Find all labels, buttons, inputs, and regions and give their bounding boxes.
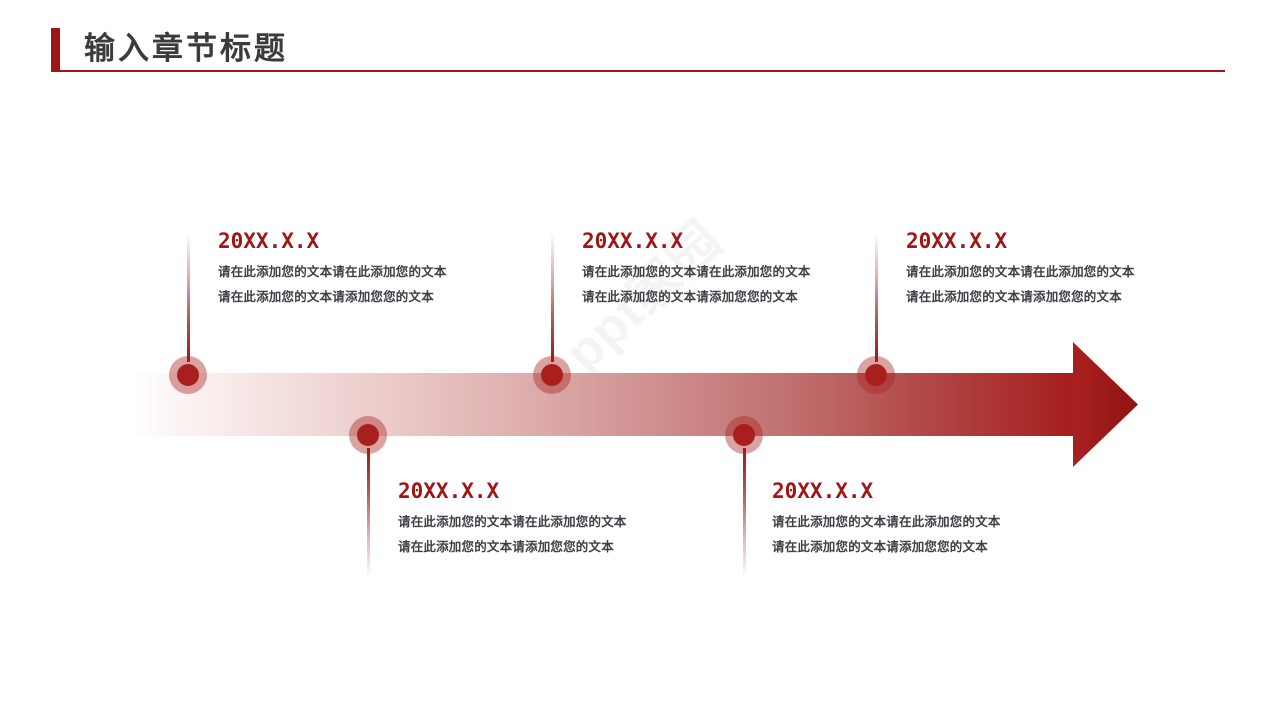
- timeline-body-2: 请在此添加您的文本请在此添加您的文本请在此添加您的文本请添加您您的文本: [398, 510, 630, 560]
- timeline-marker-2-core: [357, 424, 379, 446]
- timeline-date-3: 20XX.X.X: [582, 228, 832, 254]
- connector-stem-1: [187, 232, 190, 362]
- timeline-marker-1-core: [177, 364, 199, 386]
- slide-header: 输入章节标题: [0, 0, 1280, 100]
- timeline-body-5: 请在此添加您的文本请在此添加您的文本请在此添加您的文本请添加您您的文本: [906, 260, 1138, 310]
- connector-stem-2: [367, 448, 370, 578]
- timeline-marker-1[interactable]: [169, 356, 207, 394]
- watermark: ppt家园: [545, 300, 795, 430]
- timeline-body-3: 请在此添加您的文本请在此添加您的文本请在此添加您的文本请添加您您的文本: [582, 260, 814, 310]
- page-title: 输入章节标题: [84, 27, 288, 71]
- title-accent-bar: [51, 28, 60, 72]
- timeline-body-4: 请在此添加您的文本请在此添加您的文本请在此添加您的文本请添加您您的文本: [772, 510, 1004, 560]
- timeline-marker-4-core: [733, 424, 755, 446]
- title-underline-divider: [56, 70, 1225, 72]
- timeline-marker-4[interactable]: [725, 416, 763, 454]
- connector-stem-3: [551, 232, 554, 362]
- timeline-marker-2[interactable]: [349, 416, 387, 454]
- timeline-date-2: 20XX.X.X: [398, 478, 648, 504]
- timeline-date-5: 20XX.X.X: [906, 228, 1156, 254]
- timeline-marker-5[interactable]: [857, 356, 895, 394]
- connector-stem-5: [875, 232, 878, 362]
- timeline-arrow-bar: [130, 373, 1076, 436]
- timeline-block-5[interactable]: 20XX.X.X 请在此添加您的文本请在此添加您的文本请在此添加您的文本请添加您…: [906, 228, 1156, 310]
- timeline-marker-3[interactable]: [533, 356, 571, 394]
- timeline-date-1: 20XX.X.X: [218, 228, 468, 254]
- timeline-block-1[interactable]: 20XX.X.X 请在此添加您的文本请在此添加您的文本请在此添加您的文本请添加您…: [218, 228, 468, 310]
- timeline-block-2[interactable]: 20XX.X.X 请在此添加您的文本请在此添加您的文本请在此添加您的文本请添加您…: [398, 478, 648, 560]
- timeline-marker-5-core: [865, 364, 887, 386]
- connector-stem-4: [743, 448, 746, 578]
- timeline-date-4: 20XX.X.X: [772, 478, 1022, 504]
- timeline-marker-3-core: [541, 364, 563, 386]
- timeline-arrow-head: [1073, 342, 1138, 467]
- slide-canvas: 输入章节标题 ppt家园: [0, 0, 1280, 720]
- timeline-body-1: 请在此添加您的文本请在此添加您的文本请在此添加您的文本请添加您您的文本: [218, 260, 450, 310]
- timeline-block-3[interactable]: 20XX.X.X 请在此添加您的文本请在此添加您的文本请在此添加您的文本请添加您…: [582, 228, 832, 310]
- timeline-block-4[interactable]: 20XX.X.X 请在此添加您的文本请在此添加您的文本请在此添加您的文本请添加您…: [772, 478, 1022, 560]
